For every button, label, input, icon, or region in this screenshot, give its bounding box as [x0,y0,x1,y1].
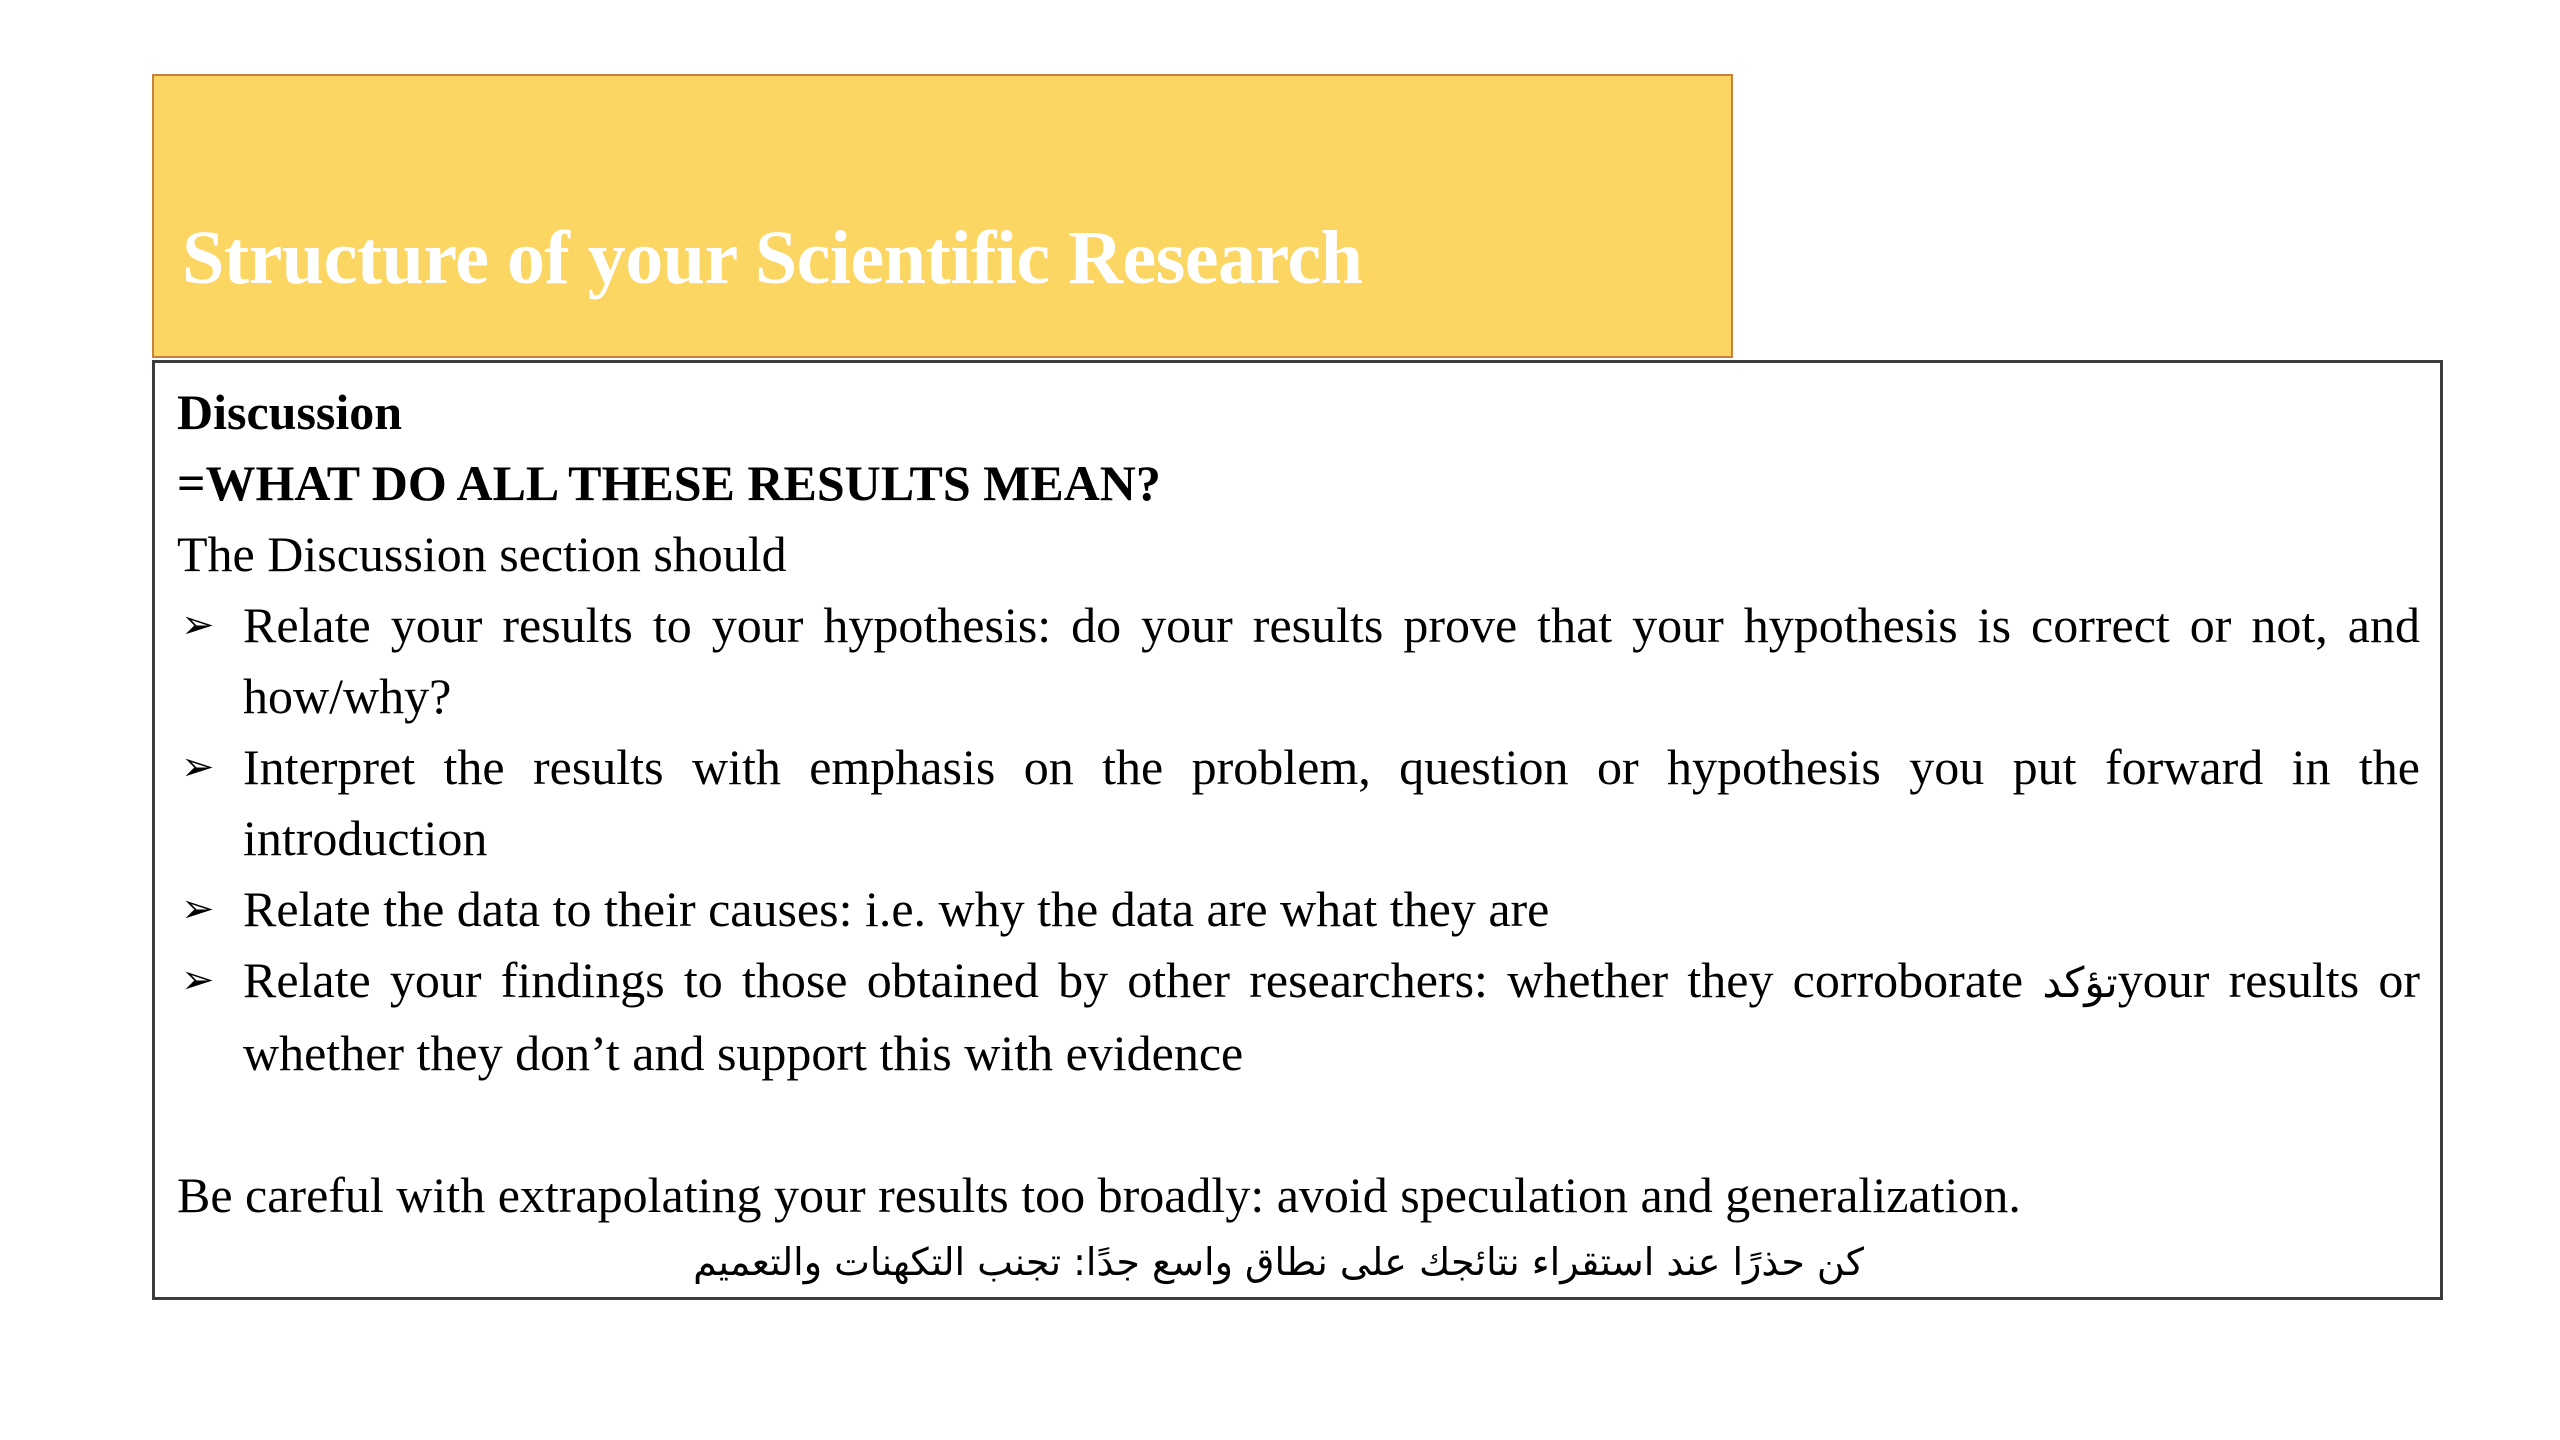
list-item: ➢ Relate your findings to those obtained… [177,945,2420,1089]
list-item-text: Interpret the results with emphasis on t… [243,732,2420,874]
slide-content-box: Discussion =WHAT DO ALL THESE RESULTS ME… [152,360,2443,1300]
list-item-text: Relate your results to your hypothesis: … [243,590,2420,732]
arabic-gloss: تؤكد [2042,958,2117,1007]
arrow-bullet-icon: ➢ [177,874,243,945]
arrow-bullet-icon: ➢ [177,590,243,661]
content-subheading: =WHAT DO ALL THESE RESULTS MEAN? [177,448,2420,519]
closing-statement-arabic: كن حذرًا عند استقراء نتائجك على نطاق واس… [177,1231,2420,1293]
slide-title-banner: Structure of your Scientific Research [152,74,1733,358]
content-intro: The Discussion section should [177,519,2420,590]
content-heading: Discussion [177,377,2420,448]
arrow-bullet-icon: ➢ [177,945,243,1016]
blank-line-spacer [177,1089,2420,1160]
page-title: Structure of your Scientific Research [154,220,1362,356]
list-item-text: Relate the data to their causes: i.e. wh… [243,874,2420,945]
list-item-text-before: Relate your findings to those obtained b… [243,952,2042,1008]
arrow-bullet-icon: ➢ [177,732,243,803]
list-item: ➢ Relate your results to your hypothesis… [177,590,2420,732]
list-item-text: Relate your findings to those obtained b… [243,945,2420,1089]
list-item: ➢ Interpret the results with emphasis on… [177,732,2420,874]
closing-statement-english: Be careful with extrapolating your resul… [177,1160,2420,1231]
list-item: ➢ Relate the data to their causes: i.e. … [177,874,2420,945]
